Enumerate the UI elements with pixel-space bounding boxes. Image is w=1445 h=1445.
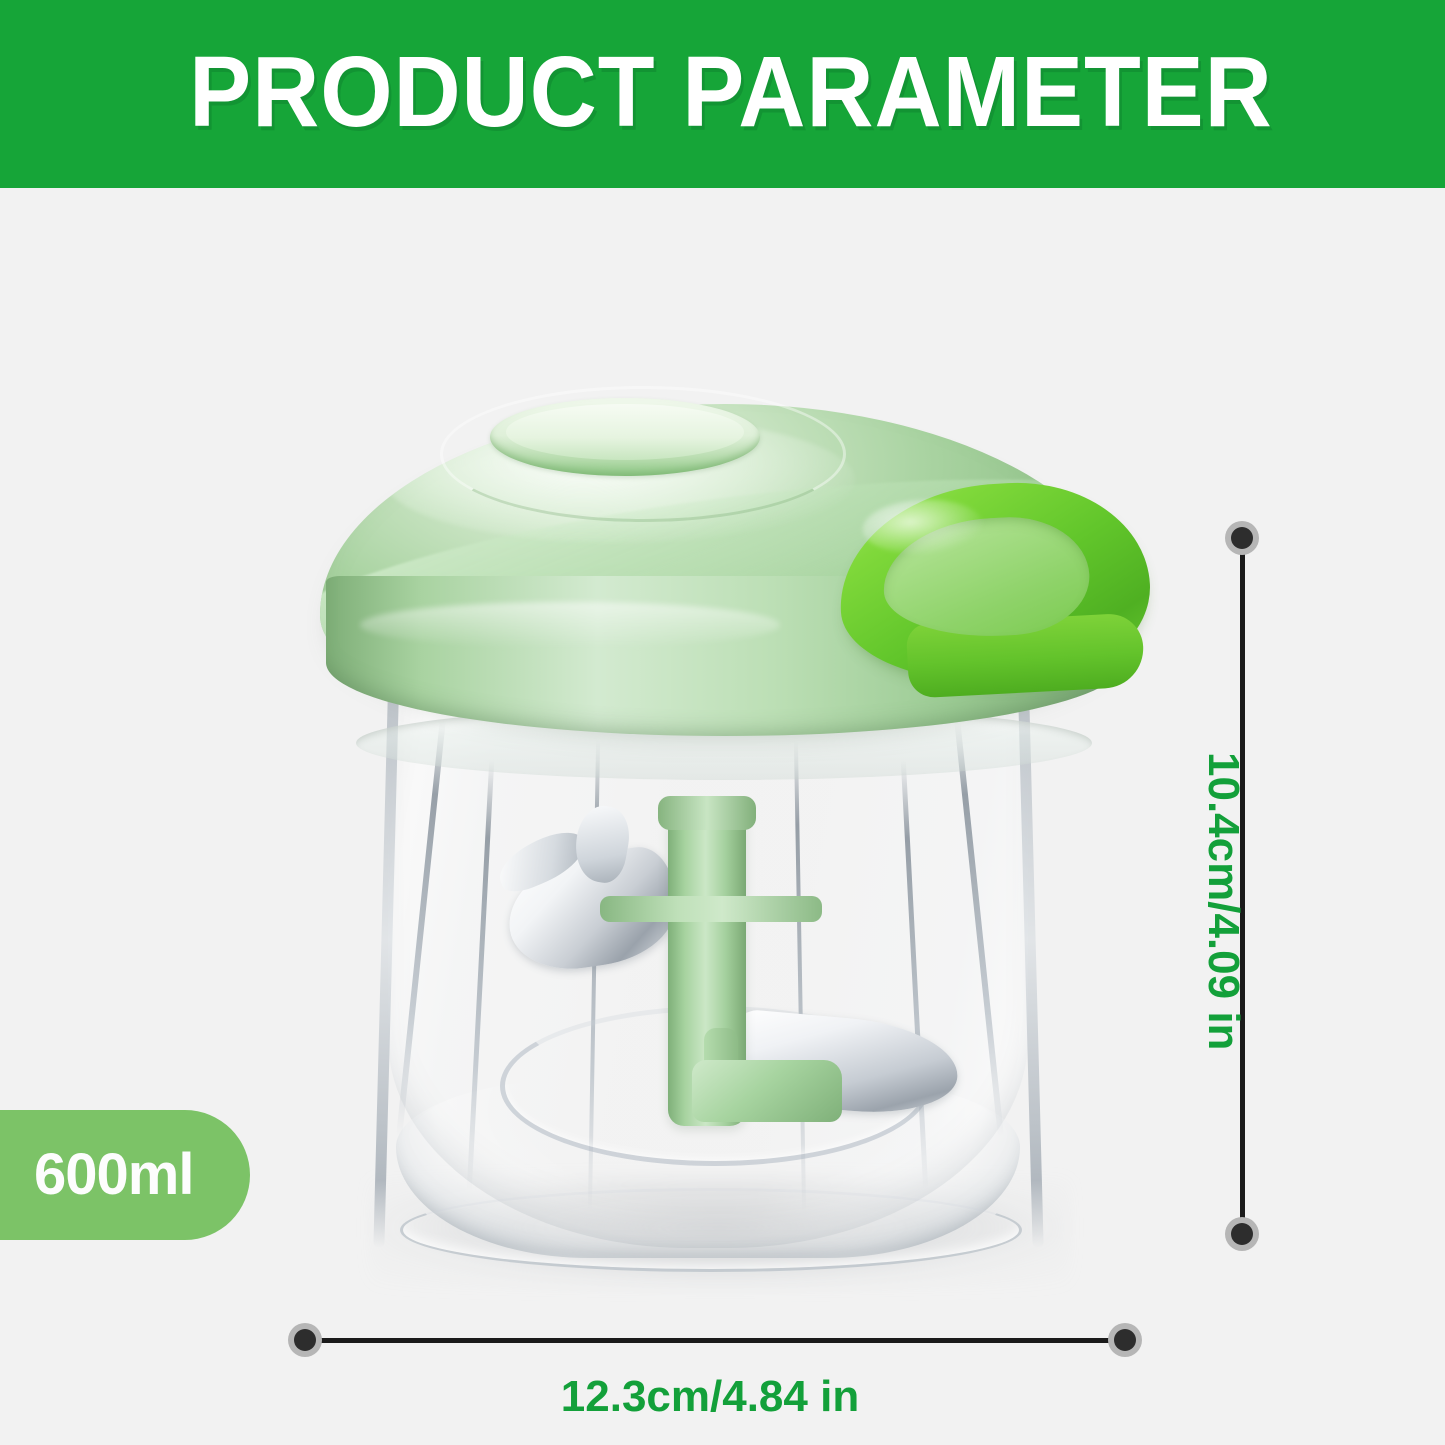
- capacity-badge-label: 600ml: [34, 1146, 193, 1204]
- width-dimension-line: [312, 1338, 1130, 1343]
- shaft-collar: [658, 796, 756, 830]
- bowl-base-rim: [400, 1188, 1022, 1272]
- height-dimension-endpoint-bottom: [1225, 1217, 1259, 1251]
- shaft-foot: [692, 1060, 842, 1122]
- shaft-cross-arm: [600, 896, 822, 922]
- height-dimension-label: 10.4cm/4.09 in: [1198, 752, 1248, 1050]
- pull-handle: [835, 476, 1156, 704]
- capacity-badge: 600ml: [0, 1110, 250, 1240]
- lid-center-cap-inner: [506, 404, 744, 460]
- height-dimension-endpoint-top: [1225, 521, 1259, 555]
- header-banner: PRODUCT PARAMETER: [0, 0, 1445, 188]
- width-dimension-endpoint-left: [288, 1323, 322, 1357]
- page-title: PRODUCT PARAMETER: [172, 42, 1272, 142]
- lid-skirt-highlight: [360, 602, 780, 648]
- width-dimension-label: 12.3cm/4.84 in: [0, 1372, 1420, 1422]
- width-dimension-endpoint-right: [1108, 1323, 1142, 1357]
- product-image-food-chopper: [300, 388, 1170, 1258]
